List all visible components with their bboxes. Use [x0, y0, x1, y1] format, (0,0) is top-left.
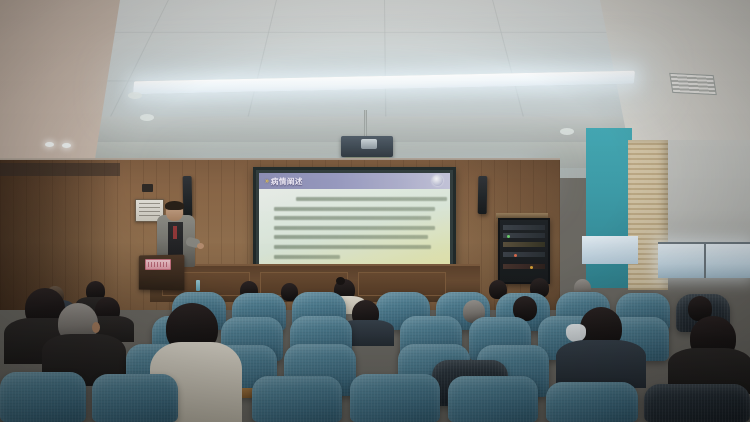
- slide-text-line: [274, 235, 428, 239]
- rack-led-red: [514, 254, 517, 257]
- conference-hall-photo: » 病情阐述: [0, 0, 750, 422]
- downlight-icon-2: [62, 143, 71, 148]
- ceiling-spot-2: [140, 114, 154, 121]
- projector-lens-icon: [361, 139, 377, 149]
- slide-header-bar: » 病情阐述: [259, 173, 450, 189]
- slide-text-line: [274, 255, 340, 259]
- ceiling-spot-3: [560, 128, 574, 135]
- audience-seat[interactable]: [546, 382, 638, 422]
- wall-speaker-right: [478, 176, 488, 214]
- ceiling-spot-1: [128, 92, 142, 99]
- slide-body-text: [274, 197, 438, 263]
- window-daylight-center-right: [582, 236, 638, 264]
- chevron-right-icon: »: [265, 178, 268, 185]
- projection-screen-frame: » 病情阐述: [253, 167, 456, 277]
- rack-unit-3: [503, 242, 545, 247]
- audience-seat[interactable]: [92, 374, 178, 422]
- rack-unit-4: [503, 252, 545, 257]
- wall-speaker-left: [183, 176, 193, 217]
- wall-dark-recess: [0, 163, 120, 176]
- downlight-icon-1: [45, 142, 54, 147]
- audience-ear: [92, 322, 100, 333]
- slide-text-line: [274, 226, 435, 230]
- slide-text-line: [296, 197, 447, 201]
- slide-text-line: [274, 207, 435, 211]
- window-frame-mullion: [704, 242, 706, 278]
- rack-unit-1: [503, 225, 545, 230]
- audience-seat[interactable]: [0, 372, 86, 422]
- rack-led-green: [507, 235, 510, 238]
- slide-title: 病情阐述: [271, 176, 303, 187]
- gray-roller-shade: [662, 140, 750, 246]
- audience-seat[interactable]: [252, 376, 342, 422]
- podium-name-sign: [145, 259, 171, 270]
- water-bottle: [196, 280, 200, 291]
- rack-led-amber: [530, 266, 533, 269]
- audience-seat[interactable]: [448, 376, 538, 422]
- av-equipment-rack[interactable]: [498, 218, 550, 284]
- air-vent-icon: [669, 73, 717, 95]
- wall-mounted-device-icon: [142, 184, 153, 192]
- audience-hair-bun: [336, 277, 345, 285]
- presenter-hair: [165, 201, 184, 210]
- rack-unit-5: [503, 264, 545, 269]
- audience-shoulders: [556, 340, 646, 388]
- audience-seat[interactable]: [644, 384, 750, 422]
- teal-wall-panel: [586, 128, 632, 288]
- presenter-hand: [197, 243, 204, 249]
- projection-screen[interactable]: » 病情阐述: [259, 173, 450, 271]
- slide-text-line: [274, 216, 431, 220]
- slide-text-line: [274, 245, 431, 249]
- audience-seat[interactable]: [350, 374, 440, 422]
- presenter-tie: [173, 226, 177, 239]
- institution-seal-logo: [432, 175, 443, 186]
